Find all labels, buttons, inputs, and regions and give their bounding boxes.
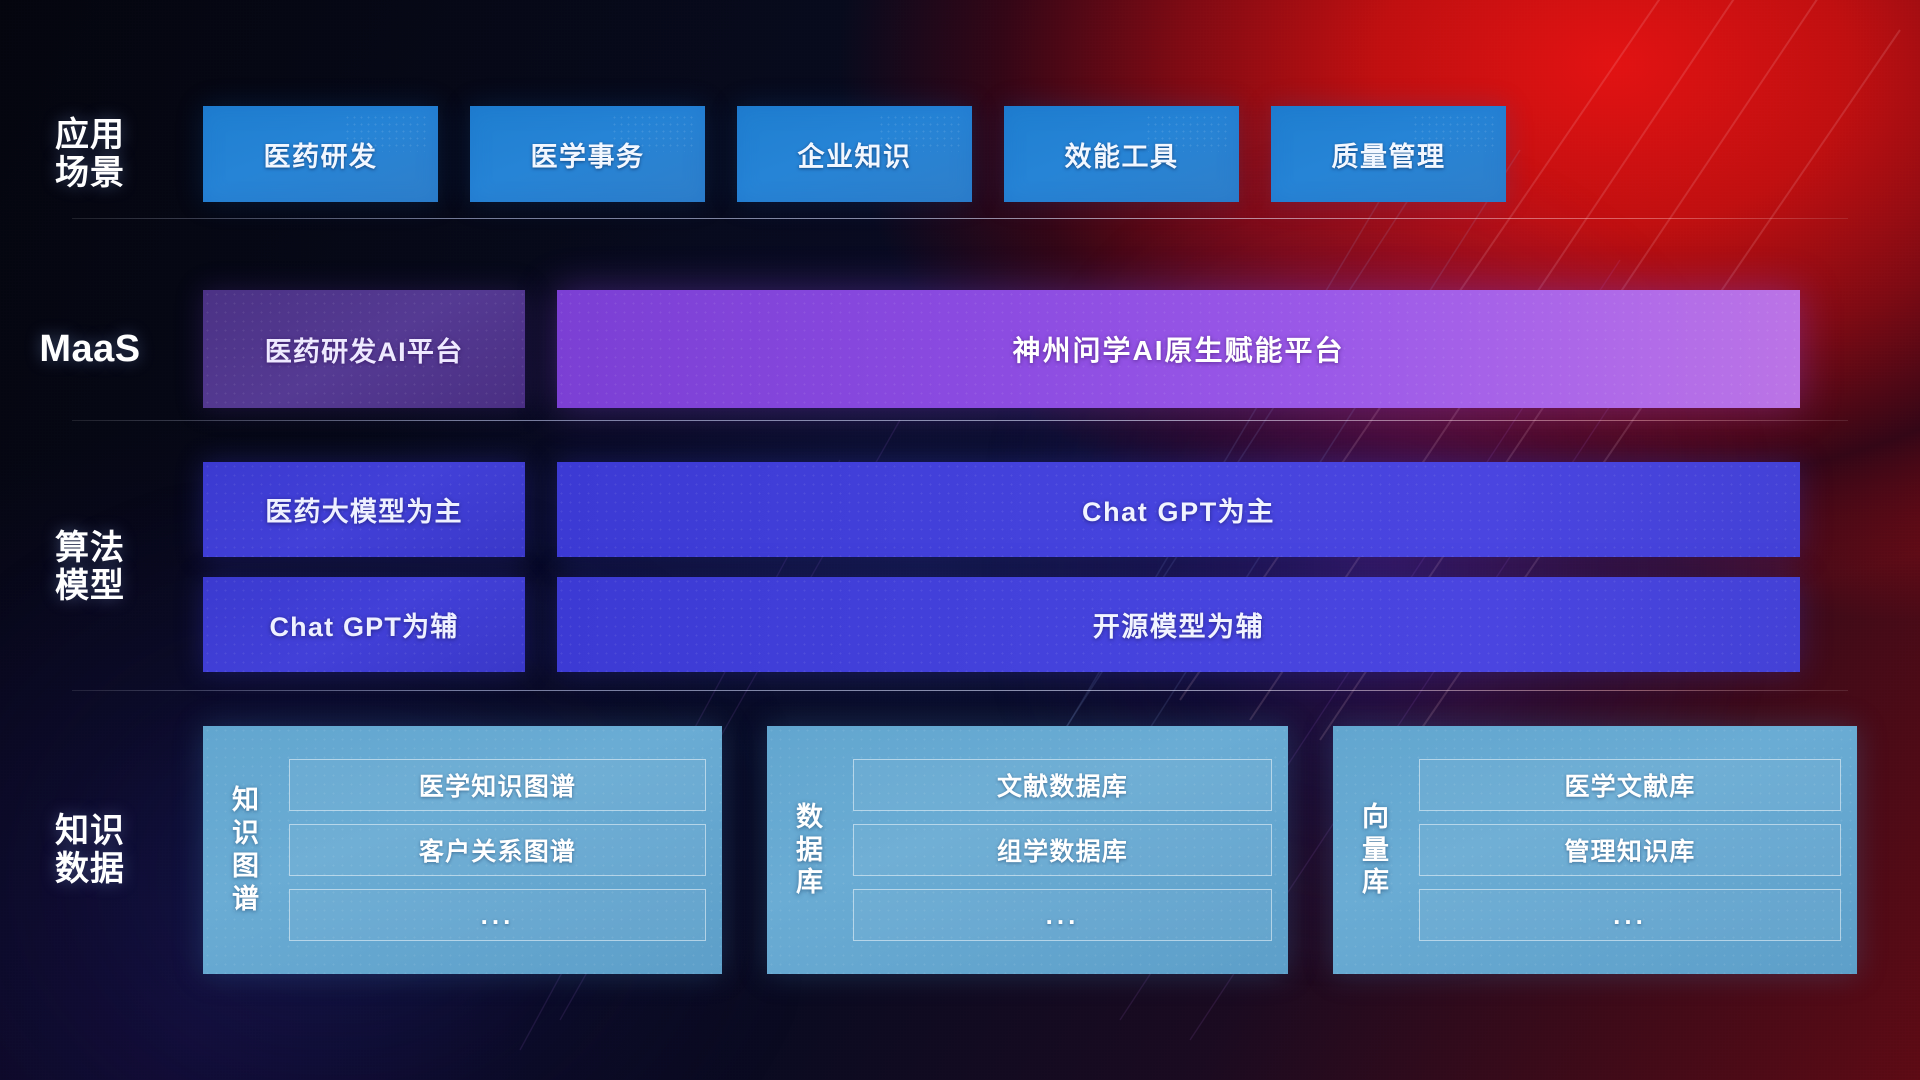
knowledge-item-medical-literature-store[interactable]: 医学文献库 <box>1419 759 1841 811</box>
knowledge-group-title-knowledge-graph: 知 识 图 谱 <box>203 784 289 916</box>
maas-card-track: 医药研发AI平台 神州问学AI原生赋能平台 <box>203 290 1800 408</box>
knowledge-item-medical-knowledge-graph[interactable]: 医学知识图谱 <box>289 759 706 811</box>
knowledge-item-literature-database[interactable]: 文献数据库 <box>853 759 1272 811</box>
algorithm-line-secondary: Chat GPT为辅 开源模型为辅 <box>203 577 1800 672</box>
row-label-maas: MaaS <box>0 328 180 371</box>
maas-card-shenzhou-wenxue-platform[interactable]: 神州问学AI原生赋能平台 <box>557 290 1800 408</box>
knowledge-group-database[interactable]: 数 据 库 文献数据库 组学数据库 ... <box>767 726 1288 974</box>
knowledge-item-more[interactable]: ... <box>853 889 1272 941</box>
app-card-label: 效能工具 <box>1065 135 1179 174</box>
divider-after-algorithms <box>72 690 1848 691</box>
app-card-label: 医药研发 <box>264 135 378 174</box>
knowledge-group-title-char: 图 <box>203 850 289 883</box>
algorithm-card-stack: 医药大模型为主 Chat GPT为主 Chat GPT为辅 开源模型为辅 <box>203 462 1800 672</box>
maas-card-pharma-ai-platform[interactable]: 医药研发AI平台 <box>203 290 525 408</box>
knowledge-item-more[interactable]: ... <box>1419 889 1841 941</box>
row-label-line: 数据 <box>0 850 180 888</box>
knowledge-group-title-char: 知 <box>203 784 289 817</box>
knowledge-item-list: 文献数据库 组学数据库 ... <box>853 759 1272 941</box>
algo-card-label: Chat GPT为主 <box>1082 490 1275 529</box>
knowledge-group-title-char: 数 <box>767 801 853 834</box>
algo-card-pharma-llm-primary[interactable]: 医药大模型为主 <box>203 462 525 557</box>
maas-card-label: 医药研发AI平台 <box>265 330 464 369</box>
row-label-line: 场景 <box>0 154 180 192</box>
knowledge-group-title-char: 库 <box>1333 866 1419 899</box>
algo-card-chatgpt-secondary[interactable]: Chat GPT为辅 <box>203 577 525 672</box>
knowledge-group-title-char: 据 <box>767 834 853 867</box>
algo-card-label: 医药大模型为主 <box>265 490 462 529</box>
row-label-application-scenarios: 应用 场景 <box>0 116 180 192</box>
row-application-scenarios: 应用 场景 医药研发 医学事务 企业知识 效能工具 质量管理 <box>0 100 1920 208</box>
knowledge-group-title-char: 量 <box>1333 834 1419 867</box>
algo-card-opensource-secondary[interactable]: 开源模型为辅 <box>557 577 1800 672</box>
knowledge-group-track: 知 识 图 谱 医学知识图谱 客户关系图谱 ... 数 据 <box>203 726 1857 974</box>
knowledge-item-management-knowledge-store[interactable]: 管理知识库 <box>1419 824 1841 876</box>
algo-card-label: Chat GPT为辅 <box>269 605 458 644</box>
app-card-enterprise-knowledge[interactable]: 企业知识 <box>737 106 972 202</box>
architecture-diagram-canvas: 应用 场景 医药研发 医学事务 企业知识 效能工具 质量管理 <box>0 0 1920 1080</box>
row-label-knowledge-data: 知识 数据 <box>0 812 180 888</box>
algo-card-chatgpt-primary[interactable]: Chat GPT为主 <box>557 462 1800 557</box>
knowledge-item-customer-relation-graph[interactable]: 客户关系图谱 <box>289 824 706 876</box>
knowledge-group-title-char: 向 <box>1333 801 1419 834</box>
app-card-label: 企业知识 <box>798 135 912 174</box>
application-card-track: 医药研发 医学事务 企业知识 效能工具 质量管理 <box>203 106 1506 202</box>
app-card-pharma-rd[interactable]: 医药研发 <box>203 106 438 202</box>
knowledge-group-title-char: 库 <box>767 866 853 899</box>
knowledge-group-title-char: 识 <box>203 817 289 850</box>
row-algorithm-models: 算法 模型 医药大模型为主 Chat GPT为主 Chat GPT为辅 <box>0 462 1920 672</box>
row-knowledge-data: 知识 数据 知 识 图 谱 医学知识图谱 客户关系图谱 ... <box>0 726 1920 974</box>
knowledge-item-more[interactable]: ... <box>289 889 706 941</box>
knowledge-item-list: 医学文献库 管理知识库 ... <box>1419 759 1841 941</box>
row-label-line: 知识 <box>0 812 180 850</box>
row-label-line: MaaS <box>0 328 180 371</box>
maas-card-label: 神州问学AI原生赋能平台 <box>1012 329 1344 369</box>
app-card-medical-affairs[interactable]: 医学事务 <box>470 106 705 202</box>
knowledge-group-title-char: 谱 <box>203 883 289 916</box>
row-label-line: 模型 <box>0 567 180 605</box>
divider-after-maas <box>72 420 1848 421</box>
algo-card-label: 开源模型为辅 <box>1093 605 1265 644</box>
knowledge-group-vector-store[interactable]: 向 量 库 医学文献库 管理知识库 ... <box>1333 726 1857 974</box>
row-label-algorithm-models: 算法 模型 <box>0 529 180 605</box>
knowledge-item-list: 医学知识图谱 客户关系图谱 ... <box>289 759 706 941</box>
knowledge-group-title-database: 数 据 库 <box>767 801 853 900</box>
row-label-line: 算法 <box>0 529 180 567</box>
app-card-label: 质量管理 <box>1332 135 1446 174</box>
app-card-label: 医学事务 <box>531 135 645 174</box>
knowledge-group-knowledge-graph[interactable]: 知 识 图 谱 医学知识图谱 客户关系图谱 ... <box>203 726 722 974</box>
row-label-line: 应用 <box>0 116 180 154</box>
row-maas: MaaS 医药研发AI平台 神州问学AI原生赋能平台 <box>0 290 1920 408</box>
knowledge-item-omics-database[interactable]: 组学数据库 <box>853 824 1272 876</box>
algorithm-line-primary: 医药大模型为主 Chat GPT为主 <box>203 462 1800 557</box>
knowledge-group-title-vector-store: 向 量 库 <box>1333 801 1419 900</box>
app-card-quality-management[interactable]: 质量管理 <box>1271 106 1506 202</box>
app-card-efficiency-tools[interactable]: 效能工具 <box>1004 106 1239 202</box>
diagram-content: 应用 场景 医药研发 医学事务 企业知识 效能工具 质量管理 <box>0 0 1920 1080</box>
divider-after-applications <box>72 218 1848 219</box>
